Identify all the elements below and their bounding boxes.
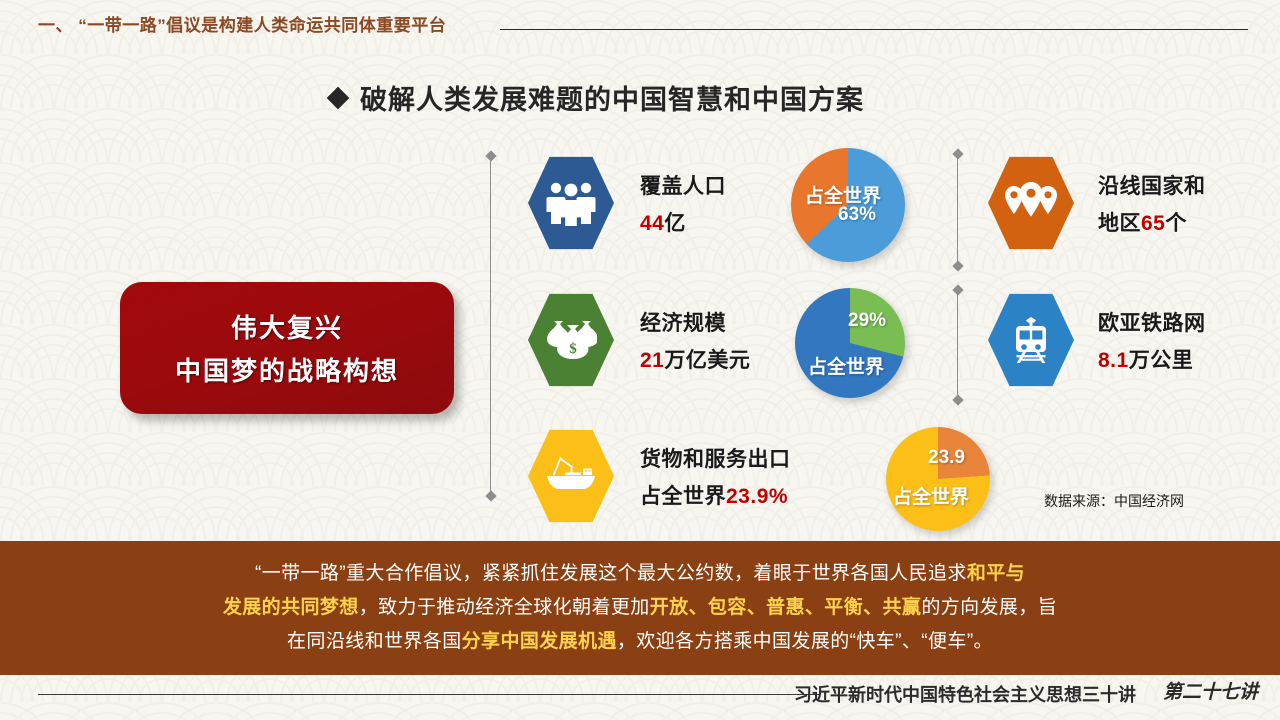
stat-label: 货物和服务出口 — [640, 443, 791, 473]
hero-line-2: 中国梦的战略构想 — [175, 351, 399, 388]
stat-value-number: 21 — [640, 349, 664, 372]
people-group-icon — [528, 155, 614, 251]
stat-value: 地区65个 — [1098, 207, 1206, 237]
connector-cap-bottom — [952, 394, 963, 405]
stat-value-suffix: 万亿美元 — [664, 349, 750, 372]
summary-line-1-highlight: 和平与 — [967, 563, 1025, 584]
train-icon — [988, 292, 1074, 388]
cargo-ship-icon — [528, 428, 614, 524]
hero-line-1: 伟大复兴 — [231, 308, 343, 345]
stat-row-exports: 货物和服务出口 占全世界23.9% — [528, 428, 791, 524]
stat-label: 覆盖人口 — [640, 170, 726, 200]
summary-line-2-highlight-c: 开放、包容、普惠、平衡、共赢 — [650, 597, 922, 618]
stat-row-population: 覆盖人口 44亿 — [528, 155, 726, 251]
stat-row-economy: $ 经济规模 21万亿美元 — [528, 292, 750, 388]
summary-line-1-text: “一带一路”重大合作倡议，紧紧抓住发展这个最大公约数，着眼于世界各国人民追求 — [255, 563, 967, 584]
footer-series-title: 习近平新时代中国特色社会主义思想三十讲 — [794, 681, 1136, 707]
pie-chart-population — [791, 148, 905, 262]
map-pins-icon — [988, 155, 1074, 251]
stat-value-number: 23.9% — [726, 485, 788, 508]
stat-label: 欧亚铁路网 — [1098, 307, 1206, 337]
data-source-note: 数据来源：中国经济网 — [1044, 491, 1184, 511]
stat-row-countries: 沿线国家和 地区65个 — [988, 155, 1206, 251]
footer-divider — [38, 694, 820, 695]
stat-value-prefix: 占全世界 — [640, 485, 726, 508]
pie-chart-exports — [886, 427, 990, 531]
stat-value-suffix: 万公里 — [1129, 349, 1194, 372]
page-title: 破解人类发展难题的中国智慧和中国方案 — [330, 78, 864, 117]
header-title: 一、 “一带一路”倡议是构建人类命运共同体重要平台 — [38, 11, 446, 36]
connector-cap-top — [952, 284, 963, 295]
summary-band: “一带一路”重大合作倡议，紧紧抓住发展这个最大公约数，着眼于世界各国人民追求和平… — [0, 541, 1280, 675]
money-bags-icon: $ — [528, 292, 614, 388]
connector-cap-top — [952, 148, 963, 159]
stat-label: 沿线国家和 — [1098, 170, 1206, 200]
stat-value: 44亿 — [640, 207, 726, 237]
stat-value-number: 65 — [1141, 212, 1165, 235]
summary-line-2: 发展的共同梦想，致力于推动经济全球化朝着更加开放、包容、普惠、平衡、共赢的方向发… — [223, 593, 1057, 623]
summary-line-3: 在同沿线和世界各国分享中国发展机遇，欢迎各方搭乘中国发展的“快车”、“便车”。 — [287, 627, 993, 657]
connector-line-right-top — [957, 154, 958, 266]
slide-canvas: 一、 “一带一路”倡议是构建人类命运共同体重要平台 破解人类发展难题的中国智慧和… — [0, 0, 1280, 720]
summary-line-2-text-b: ，致力于推动经济全球化朝着更加 — [359, 597, 650, 618]
summary-line-3-highlight: 分享中国发展机遇 — [462, 631, 617, 652]
pie-chart-economy — [795, 288, 905, 398]
summary-line-3-text-a: 在同沿线和世界各国 — [287, 631, 462, 652]
summary-line-2-highlight-a: 发展的共同梦想 — [223, 597, 359, 618]
svg-text:$: $ — [569, 341, 577, 357]
header-divider — [500, 29, 1248, 30]
stat-value-prefix: 地区 — [1098, 212, 1141, 235]
stat-label: 经济规模 — [640, 307, 750, 337]
summary-line-1: “一带一路”重大合作倡议，紧紧抓住发展这个最大公约数，着眼于世界各国人民追求和平… — [255, 559, 1025, 589]
stat-value-suffix: 亿 — [664, 212, 686, 235]
stat-value-suffix: 个 — [1165, 212, 1187, 235]
connector-line-right-bottom — [957, 290, 958, 400]
stat-row-railway: 欧亚铁路网 8.1万公里 — [988, 292, 1206, 388]
diamond-icon — [327, 86, 350, 109]
connector-cap-bottom — [485, 490, 496, 501]
stat-value: 占全世界23.9% — [640, 480, 791, 510]
slide-footer: 习近平新时代中国特色社会主义思想三十讲 第二十七讲 — [0, 675, 1280, 720]
stat-value: 8.1万公里 — [1098, 344, 1206, 374]
stat-value-number: 8.1 — [1098, 349, 1129, 372]
summary-line-3-text-c: ，欢迎各方搭乘中国发展的“快车”、“便车”。 — [617, 631, 993, 652]
stat-value-number: 44 — [640, 212, 664, 235]
page-title-text: 破解人类发展难题的中国智慧和中国方案 — [360, 78, 864, 117]
connector-cap-top — [485, 150, 496, 161]
hero-callout-box: 伟大复兴 中国梦的战略构想 — [120, 282, 454, 414]
footer-lecture-number: 第二十七讲 — [1163, 677, 1258, 704]
summary-line-2-text-d: 的方向发展，旨 — [921, 597, 1057, 618]
connector-cap-bottom — [952, 260, 963, 271]
connector-line-left — [490, 156, 491, 496]
slide-header: 一、 “一带一路”倡议是构建人类命运共同体重要平台 — [0, 0, 1280, 48]
stat-value: 21万亿美元 — [640, 344, 750, 374]
